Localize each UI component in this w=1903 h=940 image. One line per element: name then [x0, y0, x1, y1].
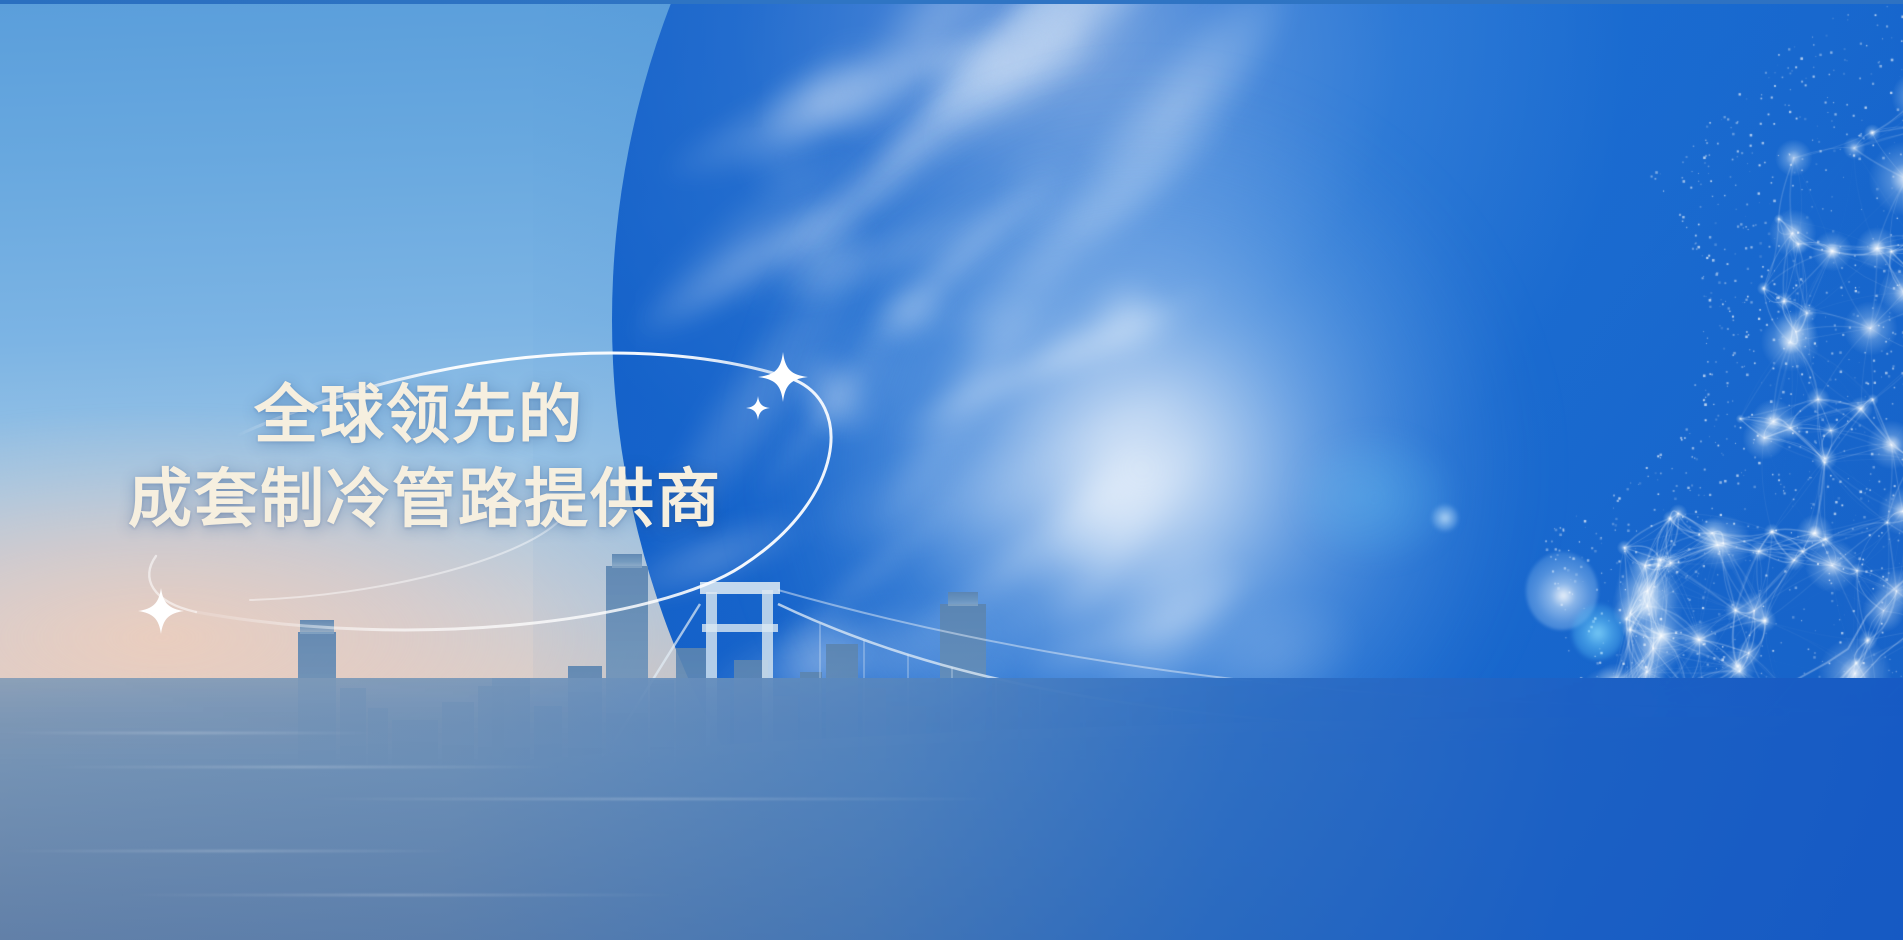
top-accent-strip	[0, 0, 1903, 4]
water-blue-overlay	[0, 678, 1903, 940]
headline: 全球领先的 成套制冷管路提供商	[128, 378, 722, 537]
water-streak	[0, 850, 460, 852]
water-streak	[0, 732, 380, 734]
hero-banner: 全球领先的 成套制冷管路提供商	[0, 0, 1903, 940]
water-streak	[300, 798, 1000, 800]
water-streak	[120, 894, 680, 896]
water-streak	[40, 766, 560, 768]
headline-line-1: 全球领先的	[254, 378, 722, 454]
headline-line-2: 成套制冷管路提供商	[128, 462, 722, 538]
